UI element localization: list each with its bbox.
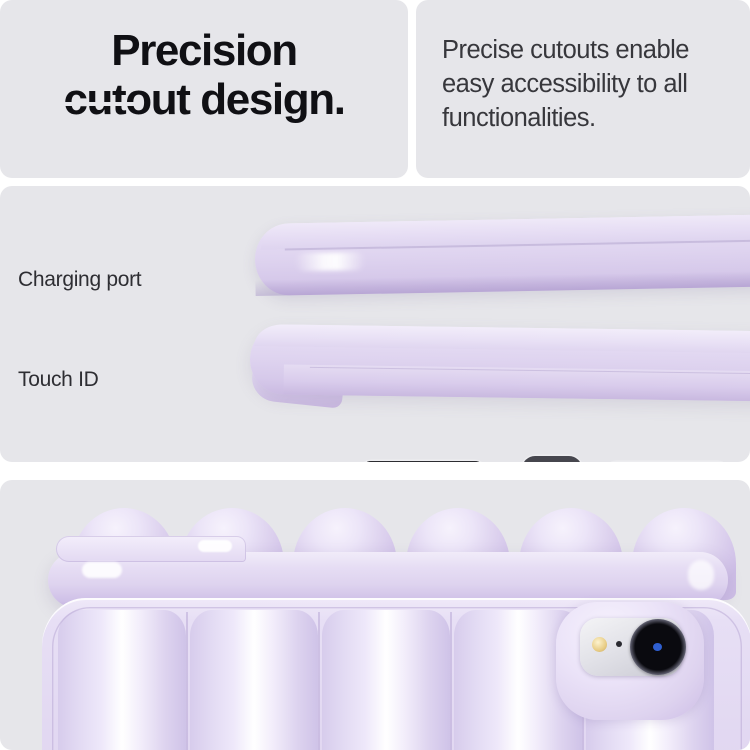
headline-cutout-word-text: cutout — [63, 75, 189, 124]
device-bottom-edge-touchid — [250, 324, 750, 401]
headline-panel: Precision cutout design. — [0, 0, 408, 178]
camera-microphone-icon — [616, 641, 622, 647]
case-bar-highlight-right — [688, 560, 714, 590]
case-bar-highlight — [82, 562, 122, 578]
subcopy-text: Precise cutouts enable easy accessibilit… — [442, 34, 736, 136]
device-gloss-highlight — [295, 252, 365, 271]
feature-label-touch-id: Touch ID — [18, 368, 98, 392]
headline: Precision cutout design. — [0, 26, 408, 125]
camera-flash-icon — [592, 637, 607, 652]
product-feature-image: Precision cutout design. Precise cutouts… — [0, 0, 750, 750]
lens-glint-icon — [653, 643, 662, 651]
device-bottom-edge-charging — [254, 214, 750, 296]
usb-c-charging-port-cutout — [522, 456, 582, 462]
headline-line-2: cutout design. — [0, 75, 408, 124]
subcopy-panel: Precise cutouts enable easy accessibilit… — [416, 0, 750, 178]
speaker-grille-left — [362, 461, 484, 462]
cutouts-detail-panel: Charging port Touch ID — [0, 186, 750, 462]
case-lip-highlight — [198, 540, 232, 552]
headline-line-2-rest: design. — [189, 75, 344, 124]
headline-cutout-word: cutout — [63, 75, 189, 124]
feature-label-charging-port: Charging port — [18, 268, 141, 292]
camera-lens-icon — [630, 619, 686, 675]
device-top-face — [254, 324, 750, 353]
device-shadow-gradient — [255, 270, 750, 296]
headline-line-1: Precision — [0, 26, 408, 75]
